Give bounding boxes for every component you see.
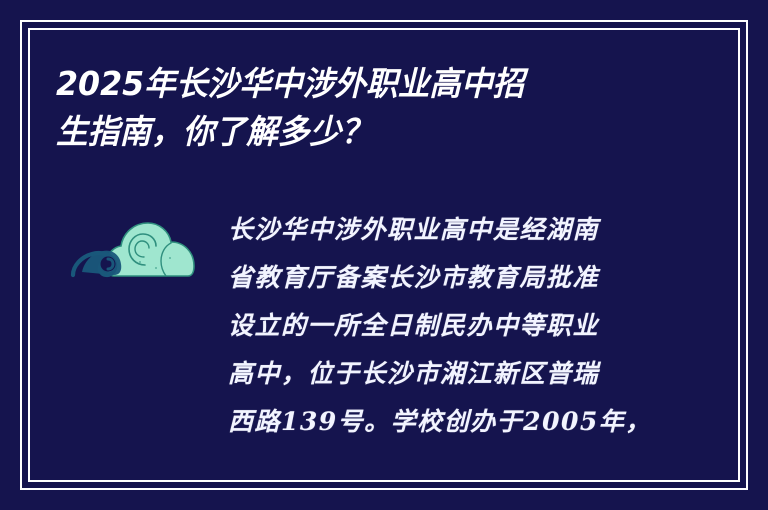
page-title: 2025年长沙华中涉外职业高中招 生指南，你了解多少？ (56, 60, 656, 156)
body-line: 西路139号。学校创办于2005年， (228, 398, 658, 446)
body-paragraph: 长沙华中涉外职业高中是经湖南 省教育厅备案长沙市教育局批准 设立的一所全日制民办… (228, 206, 658, 446)
auspicious-cloud-icon (70, 206, 200, 284)
title-line-1: 2025年长沙华中涉外职业高中招 (56, 60, 632, 108)
poster-canvas: 2025年长沙华中涉外职业高中招 生指南，你了解多少？ 长沙华中涉外职业高中是经… (0, 0, 768, 510)
body-line: 设立的一所全日制民办中等职业 (228, 302, 658, 350)
body-line: 高中，位于长沙市湘江新区普瑞 (228, 350, 658, 398)
title-line-2: 生指南，你了解多少？ (56, 108, 632, 156)
body-line: 省教育厅备案长沙市教育局批准 (228, 254, 658, 302)
body-line: 长沙华中涉外职业高中是经湖南 (228, 206, 658, 254)
